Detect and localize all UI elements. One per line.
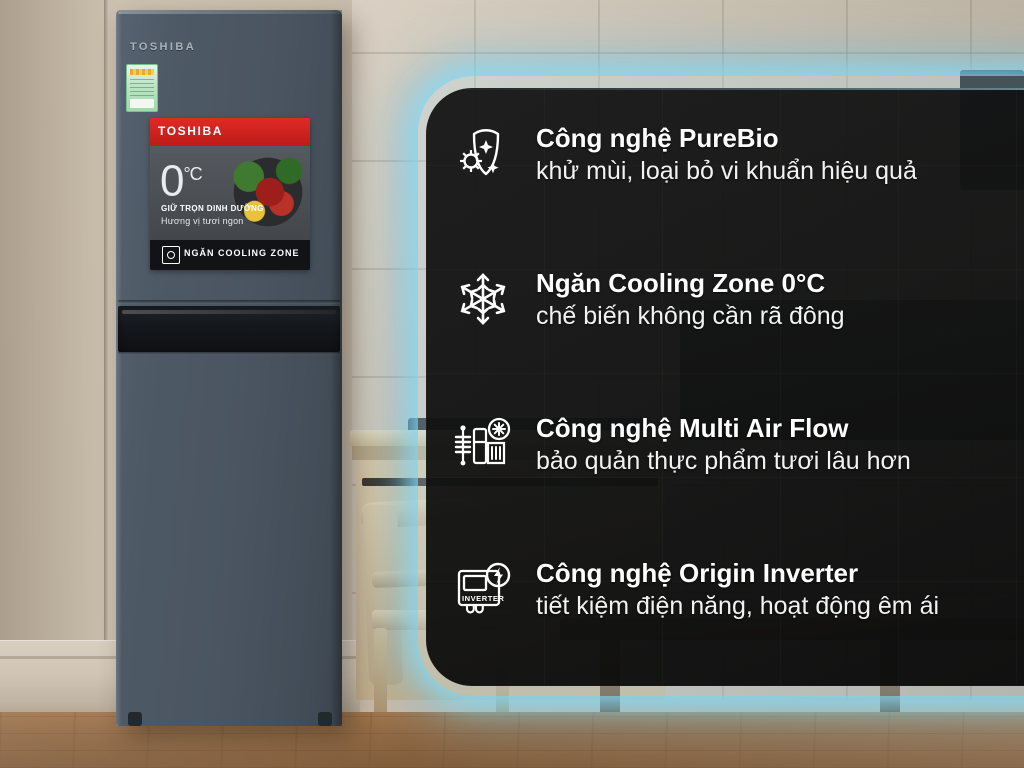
refrigerator-left-edge bbox=[116, 10, 122, 726]
wall-corner-edge bbox=[104, 0, 109, 720]
sticker-zone-label: NGĂN COOLING ZONE bbox=[184, 248, 300, 258]
door-handle-highlight bbox=[122, 310, 336, 314]
wall-shadow bbox=[0, 0, 120, 730]
multi-air-flow-icon bbox=[452, 408, 514, 480]
energy-rating-label-icon bbox=[126, 64, 158, 112]
feature-text-multi-air-flow: Công nghệ Multi Air Flow bảo quản thực p… bbox=[536, 411, 911, 476]
door-divider bbox=[118, 300, 340, 304]
energy-label-footer bbox=[130, 99, 154, 108]
refrigerator-foot bbox=[128, 712, 142, 726]
feature-subtitle: khử mùi, loại bỏ vi khuẩn hiệu quả bbox=[536, 156, 917, 187]
temperature-value: 0 bbox=[160, 157, 183, 206]
feature-list: Công nghệ PureBio khử mùi, loại bỏ vi kh… bbox=[426, 88, 1024, 686]
cooling-zone-icon bbox=[162, 246, 180, 264]
sticker-tagline-1: GIỮ TRỌN DINH DƯỠNG bbox=[161, 204, 264, 213]
svg-text:INVERTER: INVERTER bbox=[462, 594, 504, 603]
sticker-tagline-2: Hương vị tươi ngon bbox=[161, 216, 244, 226]
feature-title: Công nghệ Multi Air Flow bbox=[536, 413, 911, 444]
energy-stars bbox=[130, 69, 154, 75]
feature-title: Ngăn Cooling Zone 0°C bbox=[536, 268, 845, 299]
feature-item-origin-inverter: INVERTER Công nghệ Origin Inverter tiết … bbox=[426, 553, 939, 625]
product-marketing-image: TOSHIBA TOSHIBA 0°C GIỮ TRỌN DINH DƯỠNG … bbox=[0, 0, 1024, 768]
feature-item-cooling-zone: Ngăn Cooling Zone 0°C chế biến không cần… bbox=[426, 263, 845, 335]
refrigerator-foot bbox=[318, 712, 332, 726]
feature-text-purebio: Công nghệ PureBio khử mùi, loại bỏ vi kh… bbox=[536, 121, 917, 186]
door-sticker: TOSHIBA 0°C GIỮ TRỌN DINH DƯỠNG Hương vị… bbox=[150, 118, 310, 270]
inverter-compressor-icon: INVERTER bbox=[452, 553, 514, 625]
feature-subtitle: bảo quản thực phẩm tươi lâu hơn bbox=[536, 446, 911, 477]
feature-item-purebio: Công nghệ PureBio khử mùi, loại bỏ vi kh… bbox=[426, 118, 917, 190]
snowflake-icon bbox=[452, 263, 514, 335]
chair-leg bbox=[374, 628, 387, 720]
feature-item-multi-air-flow: Công nghệ Multi Air Flow bảo quản thực p… bbox=[426, 408, 911, 480]
sticker-brand-label: TOSHIBA bbox=[158, 124, 223, 138]
refrigerator-top-highlight bbox=[118, 10, 340, 14]
feature-text-origin-inverter: Công nghệ Origin Inverter tiết kiệm điện… bbox=[536, 556, 939, 621]
sticker-temperature: 0°C bbox=[160, 152, 202, 204]
shield-germ-icon bbox=[452, 118, 514, 190]
feature-title: Công nghệ PureBio bbox=[536, 123, 917, 154]
feature-subtitle: chế biến không cần rã đông bbox=[536, 301, 845, 332]
feature-title: Công nghệ Origin Inverter bbox=[536, 558, 939, 589]
feature-text-cooling-zone: Ngăn Cooling Zone 0°C chế biến không cần… bbox=[536, 266, 845, 331]
temperature-unit: °C bbox=[183, 164, 201, 184]
feature-subtitle: tiết kiệm điện năng, hoạt động êm ái bbox=[536, 591, 939, 622]
energy-label-lines bbox=[130, 78, 154, 96]
toshiba-logo: TOSHIBA bbox=[118, 40, 208, 54]
refrigerator-right-edge bbox=[330, 10, 342, 726]
lower-door-divider bbox=[118, 352, 340, 355]
